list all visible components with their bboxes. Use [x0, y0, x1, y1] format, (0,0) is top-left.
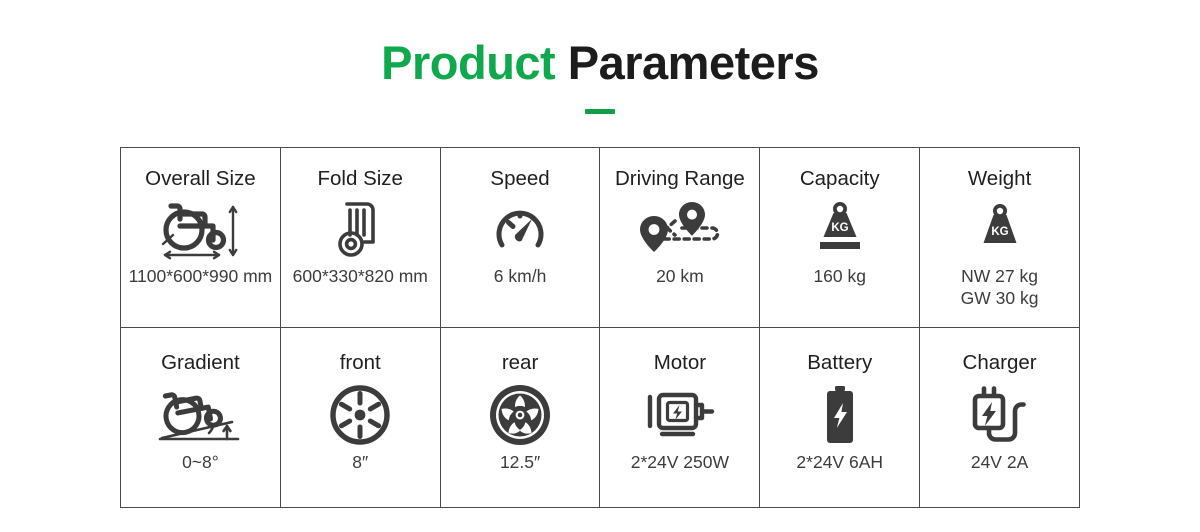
spec-value: 2*24V 250W — [631, 451, 729, 473]
spec-value-line: NW 27 kg — [961, 265, 1039, 287]
spec-cell-capacity: Capacity KG 160 kg — [760, 148, 920, 327]
spec-value: 160 kg — [813, 265, 866, 287]
spec-value: 600*330*820 mm — [293, 265, 428, 287]
spec-value-line: 2*24V 6AH — [796, 451, 883, 473]
spec-label: front — [340, 352, 381, 375]
spec-value-line: 12.5″ — [500, 451, 540, 473]
spec-cell-front-wheel: front 8″ — [281, 328, 441, 507]
spec-label: Charger — [963, 352, 1037, 375]
page-title: Product Parameters — [0, 38, 1200, 89]
spec-cell-rear-wheel: rear — [441, 328, 601, 507]
spec-value-line: 24V 2A — [971, 451, 1028, 473]
kg-weight-platform-icon: KG — [809, 197, 871, 261]
spec-label: Overall Size — [145, 168, 256, 191]
spec-cell-gradient: Gradient — [121, 328, 281, 507]
spoked-wheel-icon — [329, 383, 391, 447]
spec-label: Speed — [490, 168, 549, 191]
motor-icon — [642, 383, 718, 447]
svg-text:KG: KG — [991, 226, 1008, 238]
spec-value-line: 600*330*820 mm — [293, 265, 428, 287]
spec-label: Driving Range — [615, 168, 745, 191]
page-header: Product Parameters — [0, 38, 1200, 114]
spec-cell-battery: Battery 2*24V 6AH — [760, 328, 920, 507]
spec-cell-driving-range: Driving Range 20 km — [600, 148, 760, 327]
spec-value: 6 km/h — [494, 265, 547, 287]
spec-label: Gradient — [161, 352, 240, 375]
spec-cell-weight: Weight KG NW 27 kg GW 30 kg — [920, 148, 1079, 327]
spec-cell-fold-size: Fold Size 600*330*820 mm — [281, 148, 441, 327]
spec-value-line: GW 30 kg — [961, 287, 1039, 309]
spec-value: 12.5″ — [500, 451, 540, 473]
spec-value: 2*24V 6AH — [796, 451, 883, 473]
spec-label: Capacity — [800, 168, 880, 191]
spec-value: 0~8° — [182, 451, 219, 473]
spec-value-line: 6 km/h — [494, 265, 547, 287]
spec-cell-overall-size: Overall Size — [121, 148, 281, 327]
spec-label: Weight — [968, 168, 1031, 191]
spec-value: 20 km — [656, 265, 704, 287]
spec-value-line: 160 kg — [813, 265, 866, 287]
spec-value-line: 1100*600*990 mm — [129, 265, 273, 287]
product-parameters-page: Product Parameters Overall Size — [0, 0, 1200, 532]
svg-text:KG: KG — [831, 222, 848, 234]
kg-weight-icon: KG — [972, 197, 1028, 261]
spec-value: 24V 2A — [971, 451, 1028, 473]
wheelchair-dimensions-icon — [153, 197, 247, 261]
spec-cell-speed: Speed 6 km/h — [441, 148, 601, 327]
spec-value-line: 8″ — [352, 451, 368, 473]
spec-cell-charger: Charger 24V 2A — [920, 328, 1079, 507]
page-title-accent: Product — [381, 36, 555, 89]
page-title-plain: Parameters — [555, 36, 819, 89]
spec-value: NW 27 kg GW 30 kg — [961, 265, 1039, 310]
folded-wheelchair-icon — [334, 197, 386, 261]
spec-label: rear — [502, 352, 538, 375]
wheelchair-incline-icon — [152, 383, 248, 447]
spec-value-line: 0~8° — [182, 451, 219, 473]
charger-plug-icon — [969, 383, 1031, 447]
spec-value: 1100*600*990 mm — [129, 265, 273, 287]
spec-label: Fold Size — [318, 168, 403, 191]
map-route-pins-icon — [634, 197, 726, 261]
spec-table: Overall Size — [120, 147, 1080, 508]
table-row: Overall Size — [121, 148, 1079, 328]
title-underline-divider — [585, 109, 615, 114]
table-row: Gradient — [121, 328, 1079, 507]
spec-value-line: 2*24V 250W — [631, 451, 729, 473]
spec-label: Battery — [807, 352, 872, 375]
spec-value-line: 20 km — [656, 265, 704, 287]
tire-wheel-icon — [488, 383, 552, 447]
battery-bolt-icon — [820, 383, 860, 447]
spec-value: 8″ — [352, 451, 368, 473]
speedometer-icon — [491, 197, 549, 261]
spec-cell-motor: Motor — [600, 328, 760, 507]
spec-label: Motor — [654, 352, 706, 375]
